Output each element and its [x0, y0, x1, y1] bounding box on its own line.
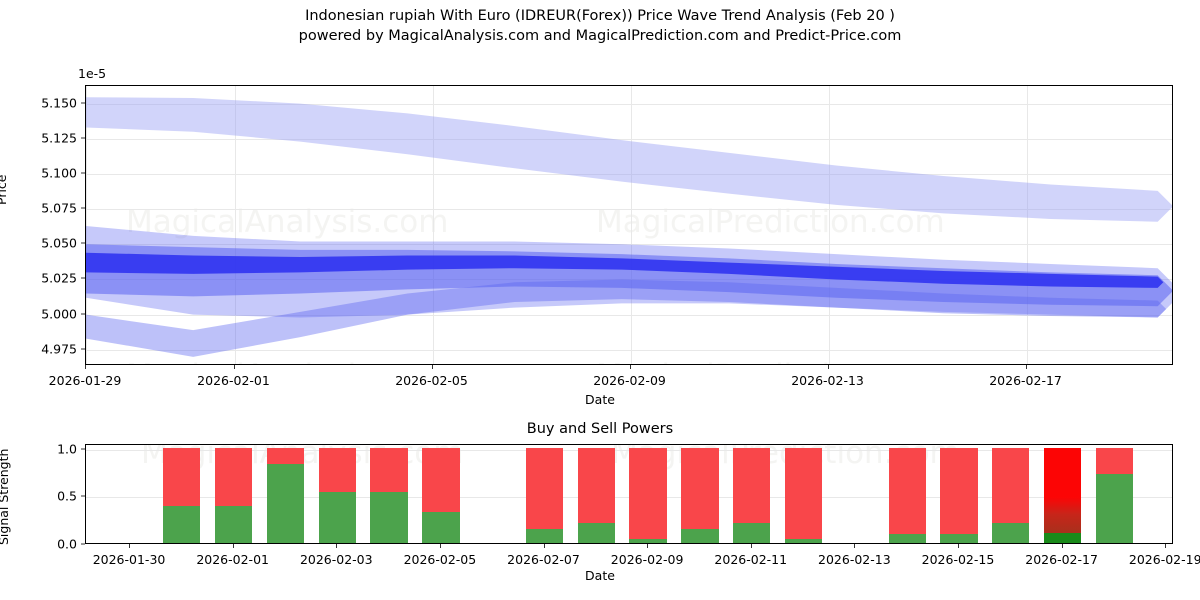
price-y-tick-mark — [81, 172, 85, 173]
sell-power-segment — [629, 448, 666, 539]
buy-power-segment — [319, 492, 356, 543]
signal-x-tick-label: 2026-02-05 — [404, 552, 477, 567]
price-y-tick-mark — [81, 102, 85, 103]
price-y-tick-label: 5.050 — [0, 236, 77, 251]
signal-bar[interactable] — [785, 448, 822, 543]
signal-bar[interactable] — [422, 448, 459, 543]
price-y-tick-label: 4.975 — [0, 341, 77, 356]
buy-power-segment — [1096, 474, 1133, 543]
signal-x-tick-mark — [751, 544, 752, 548]
price-y-tick-mark — [81, 208, 85, 209]
sell-power-segment — [422, 448, 459, 512]
price-wave-trend-chart: MagicalAnalysis.comMagicalPrediction.com… — [85, 85, 1173, 365]
buy-power-segment — [370, 492, 407, 543]
sell-power-segment — [578, 448, 615, 523]
signal-x-tick-label: 2026-01-30 — [93, 552, 166, 567]
sell-power-segment — [889, 448, 926, 535]
price-x-tick-mark — [85, 365, 86, 369]
signal-y-tick-label: 0.5 — [0, 489, 77, 504]
signal-y-tick-mark — [81, 448, 85, 449]
signal-x-tick-label: 2026-02-15 — [922, 552, 995, 567]
buy-power-segment — [422, 512, 459, 543]
buy-power-segment — [215, 506, 252, 543]
buy-power-segment — [785, 539, 822, 543]
price-x-tick-mark — [234, 365, 235, 369]
buy-power-segment — [267, 464, 304, 543]
signal-x-axis-label: Date — [0, 568, 1200, 583]
price-y-tick-label: 5.000 — [0, 306, 77, 321]
signal-bar[interactable] — [578, 448, 615, 543]
signal-bar[interactable] — [215, 448, 252, 543]
signal-x-tick-mark — [233, 544, 234, 548]
price-x-axis-label: Date — [0, 392, 1200, 407]
sell-power-segment — [733, 448, 770, 523]
price-band-upper-resistance-band — [86, 97, 1172, 222]
price-y-tick-mark — [81, 348, 85, 349]
price-x-tick-mark — [1026, 365, 1027, 369]
buy-power-segment — [1044, 533, 1081, 543]
signal-x-tick-mark — [440, 544, 441, 548]
price-y-tick-mark — [81, 278, 85, 279]
sell-power-segment — [319, 448, 356, 492]
price-y-tick-label: 5.150 — [0, 95, 77, 110]
signal-bar[interactable] — [163, 448, 200, 543]
title-line-2: powered by MagicalAnalysis.com and Magic… — [0, 26, 1200, 46]
price-x-tick-label: 2026-02-09 — [593, 373, 666, 388]
price-x-tick-mark — [630, 365, 631, 369]
sell-power-segment — [785, 448, 822, 539]
signal-y-tick-mark — [81, 544, 85, 545]
signal-x-tick-mark — [336, 544, 337, 548]
signal-x-tick-label: 2026-02-09 — [611, 552, 684, 567]
buy-power-segment — [733, 523, 770, 543]
buy-power-segment — [629, 539, 666, 543]
sell-power-segment — [1044, 448, 1081, 534]
price-y-tick-label: 5.100 — [0, 165, 77, 180]
price-y-tick-label: 5.075 — [0, 201, 77, 216]
signal-x-tick-label: 2026-02-11 — [714, 552, 787, 567]
price-y-tick-label: 5.125 — [0, 130, 77, 145]
signal-y-tick-label: 1.0 — [0, 441, 77, 456]
price-x-tick-label: 2026-02-13 — [791, 373, 864, 388]
signal-x-tick-label: 2026-02-17 — [1025, 552, 1098, 567]
sell-power-segment — [1096, 448, 1133, 475]
sell-power-segment — [526, 448, 563, 529]
signal-x-tick-label: 2026-02-13 — [818, 552, 891, 567]
signal-x-tick-mark — [647, 544, 648, 548]
signal-bar[interactable] — [319, 448, 356, 543]
signal-x-tick-mark — [544, 544, 545, 548]
buy-power-segment — [526, 529, 563, 543]
signal-x-tick-mark — [854, 544, 855, 548]
signal-bar[interactable] — [267, 448, 304, 543]
price-x-tick-label: 2026-01-29 — [49, 373, 122, 388]
chart-page: Indonesian rupiah With Euro (IDREUR(Fore… — [0, 0, 1200, 600]
price-x-tick-mark — [432, 365, 433, 369]
price-plot-area: MagicalAnalysis.comMagicalPrediction.com… — [86, 86, 1172, 364]
signal-bar[interactable] — [733, 448, 770, 543]
signal-bar[interactable] — [889, 448, 926, 543]
signal-y-tick-label: 0.0 — [0, 537, 77, 552]
buy-power-segment — [163, 506, 200, 543]
sell-power-segment — [940, 448, 977, 535]
title-line-1: Indonesian rupiah With Euro (IDREUR(Fore… — [0, 6, 1200, 26]
signal-x-tick-label: 2026-02-03 — [300, 552, 373, 567]
signal-x-tick-label: 2026-02-07 — [507, 552, 580, 567]
price-x-tick-label: 2026-02-01 — [197, 373, 270, 388]
signal-bar[interactable] — [992, 448, 1029, 543]
signal-bar[interactable] — [1096, 448, 1133, 543]
sell-power-segment — [163, 448, 200, 506]
signal-bar[interactable] — [940, 448, 977, 543]
buy-power-segment — [889, 534, 926, 543]
price-y-tick-mark — [81, 243, 85, 244]
buy-power-segment — [578, 523, 615, 543]
page-title: Indonesian rupiah With Euro (IDREUR(Fore… — [0, 6, 1200, 46]
signal-bar[interactable] — [1044, 448, 1081, 543]
signal-bar[interactable] — [526, 448, 563, 543]
signal-bar[interactable] — [629, 448, 666, 543]
sell-power-segment — [992, 448, 1029, 523]
signal-bar[interactable] — [681, 448, 718, 543]
signal-x-tick-mark — [129, 544, 130, 548]
buy-power-segment — [992, 523, 1029, 543]
signal-x-tick-mark — [1165, 544, 1166, 548]
signal-bar[interactable] — [370, 448, 407, 543]
sell-power-segment — [215, 448, 252, 506]
price-y-tick-mark — [81, 313, 85, 314]
signal-x-tick-label: 2026-02-01 — [196, 552, 269, 567]
y-axis-exponent: 1e-5 — [78, 66, 106, 81]
sell-power-segment — [370, 448, 407, 492]
signal-x-tick-mark — [1062, 544, 1063, 548]
signal-chart-title: Buy and Sell Powers — [0, 421, 1200, 437]
price-x-tick-label: 2026-02-05 — [395, 373, 468, 388]
price-y-tick-label: 5.025 — [0, 271, 77, 286]
signal-x-tick-mark — [958, 544, 959, 548]
signal-y-tick-mark — [81, 496, 85, 497]
sell-power-segment — [681, 448, 718, 529]
buy-sell-powers-chart: MagicalAnalysis.comMagicalPrediction.com — [85, 444, 1173, 544]
price-y-tick-mark — [81, 137, 85, 138]
price-band-layer — [86, 86, 1172, 364]
price-x-tick-label: 2026-02-17 — [989, 373, 1062, 388]
price-x-tick-mark — [828, 365, 829, 369]
buy-power-segment — [940, 534, 977, 543]
signal-x-tick-label: 2026-02-19 — [1129, 552, 1200, 567]
sell-power-segment — [267, 448, 304, 464]
buy-power-segment — [681, 529, 718, 543]
